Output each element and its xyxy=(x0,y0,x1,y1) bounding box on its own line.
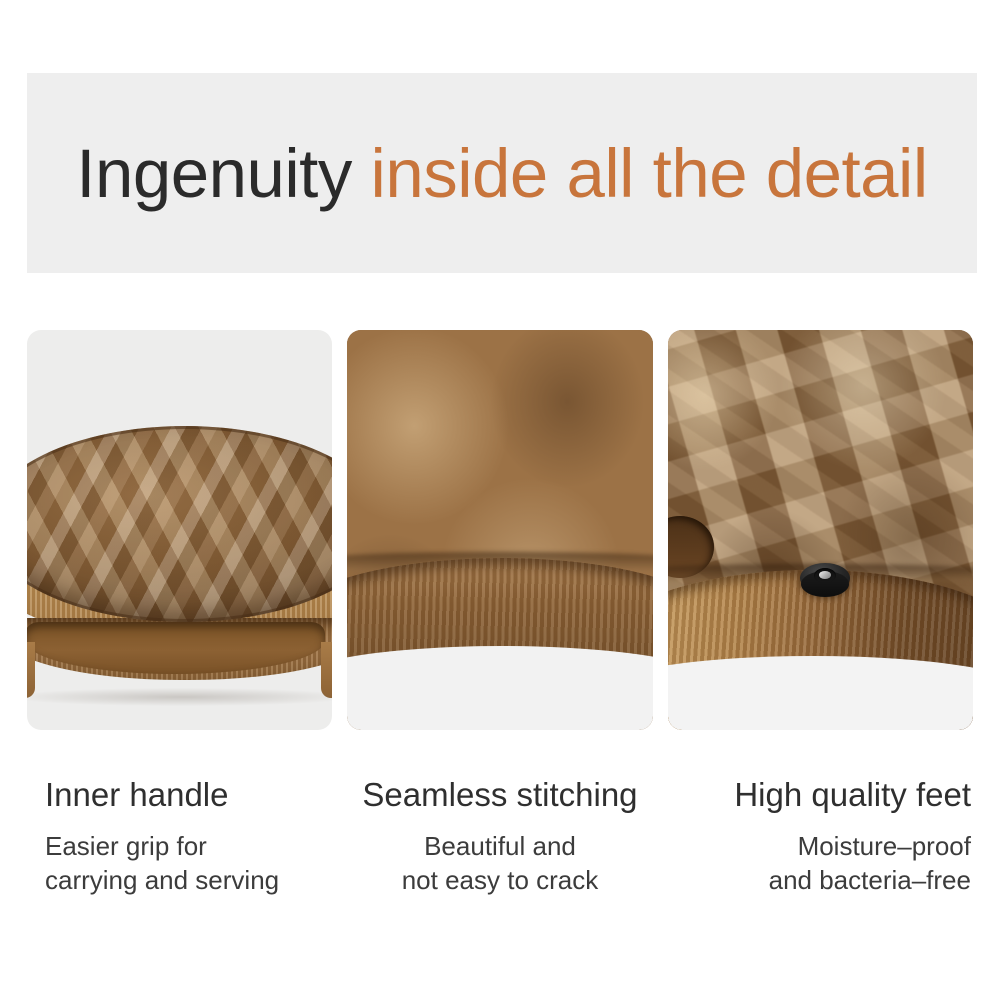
caption-title: Seamless stitching xyxy=(347,775,652,815)
caption-subtitle-line2: not easy to crack xyxy=(347,863,652,897)
caption-subtitle-line2: and bacteria–free xyxy=(668,863,971,897)
page-title: Ingenuity inside all the detail xyxy=(76,139,927,208)
caption-seamless-stitching: Seamless stitching Beautiful and not eas… xyxy=(347,775,652,897)
rubber-foot-icon xyxy=(800,559,850,599)
caption-high-quality-feet: High quality feet Moisture–proof and bac… xyxy=(668,775,973,897)
screw-head-icon xyxy=(819,571,831,579)
caption-subtitle: Beautiful and not easy to crack xyxy=(347,829,652,897)
feature-image-seamless-stitching[interactable] xyxy=(347,330,652,730)
product-feature-infographic: Ingenuity inside all the detail xyxy=(0,0,1000,1000)
caption-subtitle-line1: Moisture–proof xyxy=(668,829,971,863)
caption-subtitle: Easier grip for carrying and serving xyxy=(27,829,332,897)
panel-base-strip xyxy=(347,696,652,730)
headline-accent-text: inside all the detail xyxy=(371,135,928,212)
wood-board-edge-icon xyxy=(27,426,332,730)
panel-base-strip xyxy=(668,700,973,730)
board-foot-right xyxy=(321,642,332,698)
feature-image-inner-handle[interactable] xyxy=(27,330,332,730)
headline-band: Ingenuity inside all the detail xyxy=(27,73,977,273)
feature-image-row xyxy=(27,330,973,730)
caption-title: Inner handle xyxy=(27,775,332,815)
caption-title: High quality feet xyxy=(668,775,973,815)
caption-subtitle: Moisture–proof and bacteria–free xyxy=(668,829,973,897)
caption-inner-handle: Inner handle Easier grip for carrying an… xyxy=(27,775,332,897)
board-underside-icon xyxy=(668,330,973,730)
caption-subtitle-line2: carrying and serving xyxy=(45,863,332,897)
end-grain-pattern-icon xyxy=(347,330,652,730)
feature-caption-row: Inner handle Easier grip for carrying an… xyxy=(27,775,973,897)
board-drop-shadow xyxy=(27,688,332,706)
caption-subtitle-line1: Easier grip for xyxy=(45,829,332,863)
feature-image-high-quality-feet[interactable] xyxy=(668,330,973,730)
board-foot-left xyxy=(27,642,35,698)
headline-dark-text: Ingenuity xyxy=(76,135,352,212)
board-top-rim xyxy=(27,426,332,622)
caption-subtitle-line1: Beautiful and xyxy=(347,829,652,863)
